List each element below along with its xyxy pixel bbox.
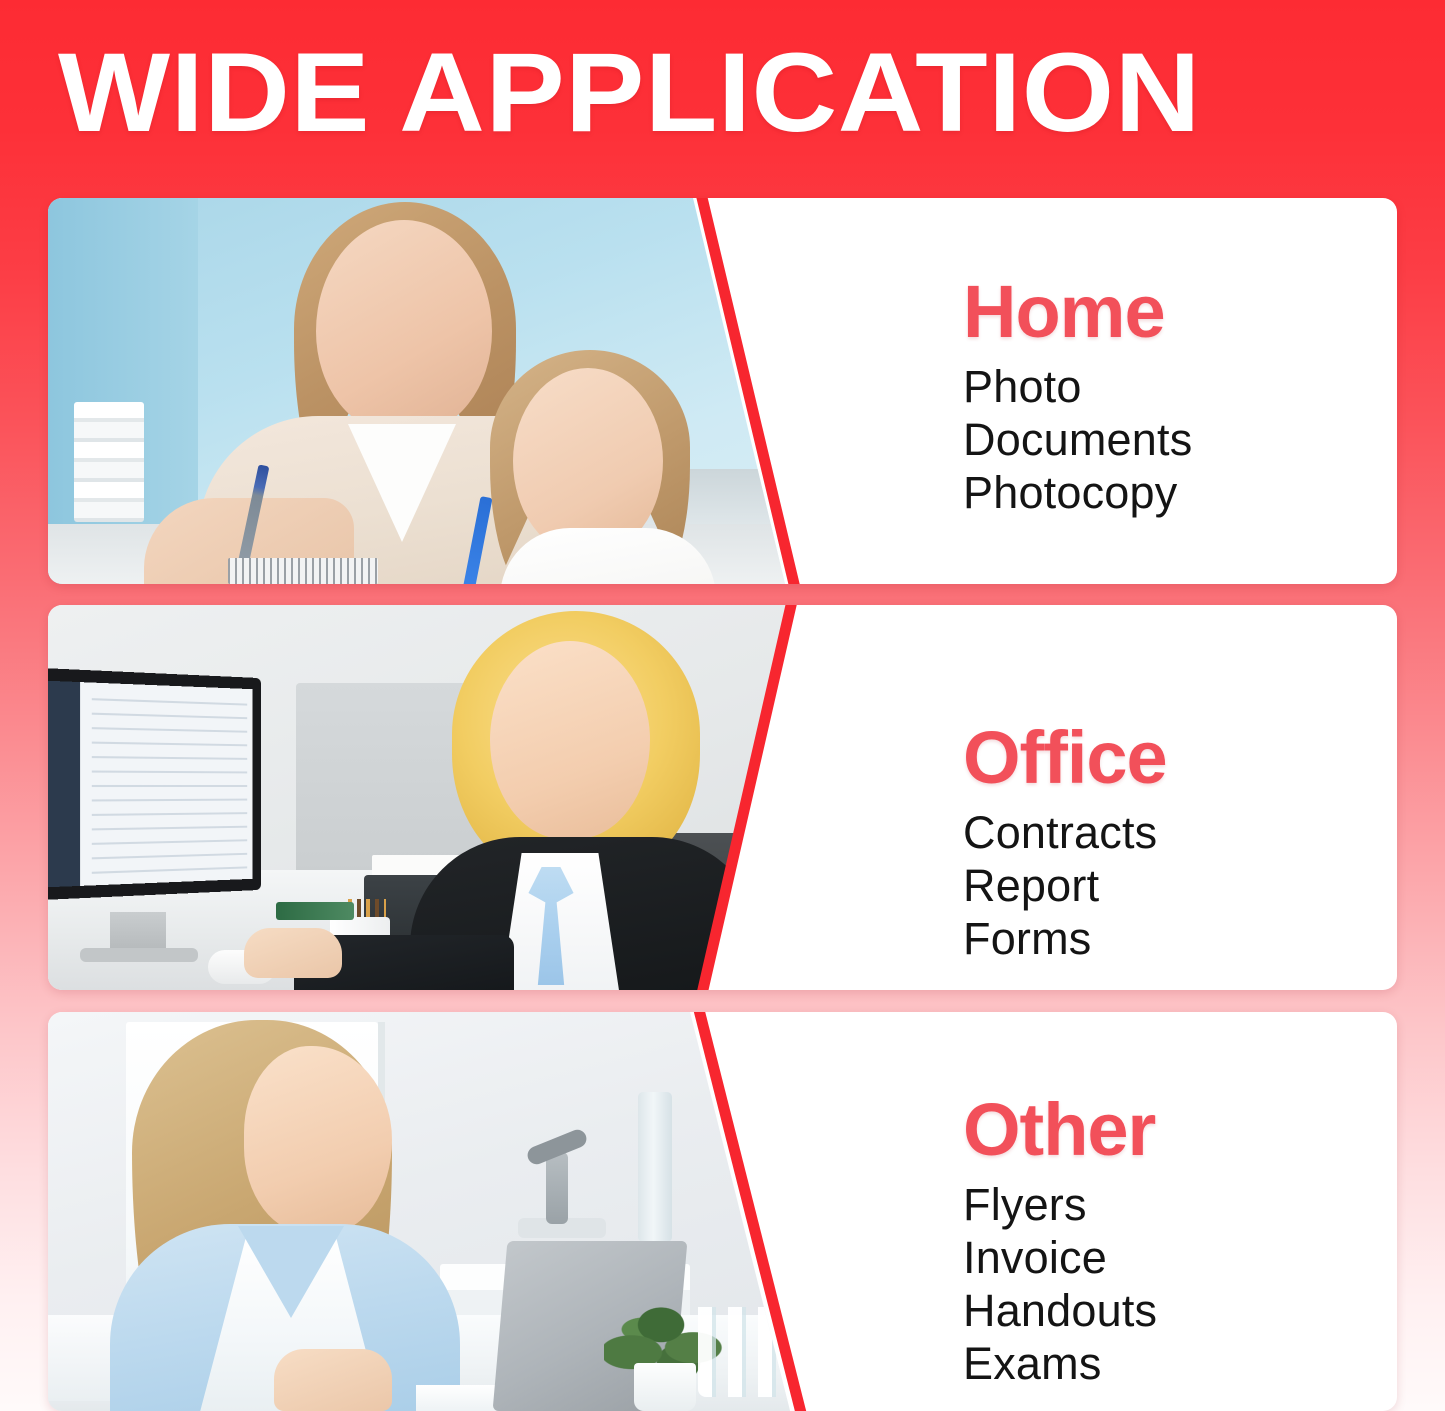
application-card-home: Home Photo Documents Photocopy [48, 198, 1397, 584]
monitor-base [80, 948, 198, 962]
woman-face [244, 1046, 392, 1234]
screen-content-lines [92, 698, 247, 874]
card-list-other: Flyers Invoice Handouts Exams [848, 1178, 1397, 1390]
list-item: Flyers [963, 1178, 1397, 1231]
card-heading-home: Home [963, 272, 1397, 352]
woman-face [490, 641, 650, 839]
girl-face [513, 368, 663, 554]
card-list-office: Contracts Report Forms [848, 806, 1397, 965]
list-item: Report [963, 859, 1397, 912]
card-text-panel-home: Home Photo Documents Photocopy [848, 198, 1397, 584]
woman-face [316, 220, 492, 434]
list-item: Forms [963, 912, 1397, 965]
plant-pot [634, 1363, 696, 1411]
books-stack [74, 402, 144, 522]
lab-cylinder [638, 1092, 672, 1242]
application-card-other: Other Flyers Invoice Handouts Exams [48, 1012, 1397, 1411]
phone-on-desk [276, 902, 354, 920]
card-photo-other [48, 1012, 808, 1411]
card-photo-home [48, 198, 808, 584]
card-text-panel-office: Office Contracts Report Forms [848, 605, 1397, 990]
list-item: Handouts [963, 1284, 1397, 1337]
wide-application-poster: WIDE APPLICATION [0, 0, 1445, 1411]
list-item: Exams [963, 1337, 1397, 1390]
notepad [228, 558, 378, 584]
clasped-hands [274, 1349, 392, 1411]
list-item: Photo [963, 360, 1397, 413]
microscope-arm [546, 1152, 568, 1224]
card-text-panel-other: Other Flyers Invoice Handouts Exams [848, 1012, 1397, 1411]
list-item: Documents [963, 413, 1397, 466]
list-item: Photocopy [963, 466, 1397, 519]
woman-hand [244, 928, 342, 978]
page-title: WIDE APPLICATION [58, 34, 1445, 154]
list-item: Contracts [963, 806, 1397, 859]
card-list-home: Photo Documents Photocopy [848, 360, 1397, 519]
list-item: Invoice [963, 1231, 1397, 1284]
application-card-office: Office Contracts Report Forms [48, 605, 1397, 990]
card-heading-office: Office [963, 718, 1397, 798]
card-heading-other: Other [963, 1090, 1397, 1170]
card-photo-office [48, 605, 808, 990]
